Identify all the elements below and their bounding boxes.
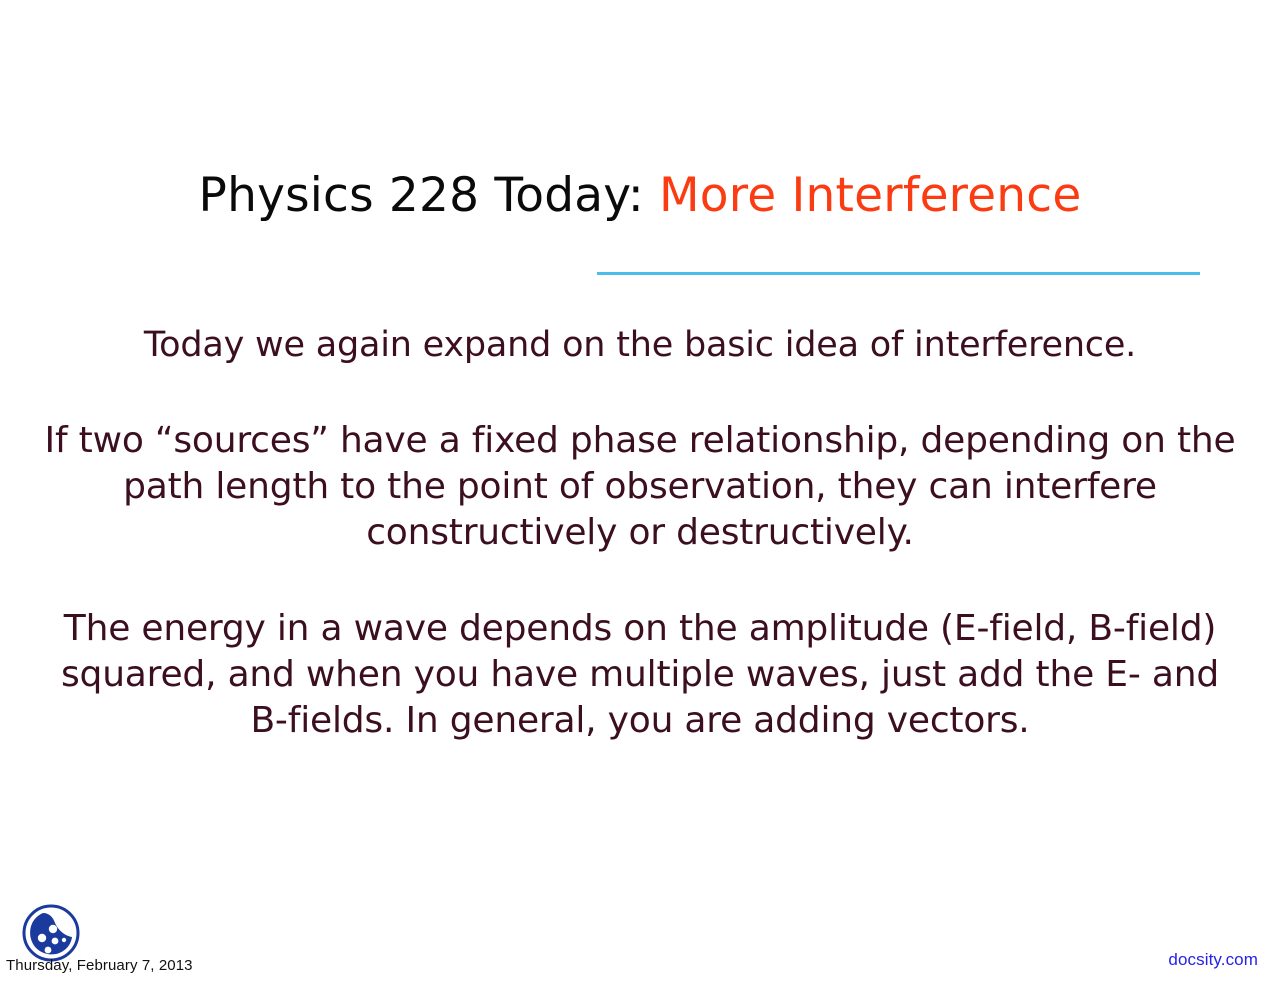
slide-canvas: Physics 228 Today: More Interference Tod… [0, 0, 1280, 985]
docsity-logo-icon [21, 903, 81, 963]
body-paragraph-1: Today we again expand on the basic idea … [40, 322, 1240, 368]
slide-title: Physics 228 Today: More Interference [0, 170, 1280, 222]
body-paragraph-2: If two “sources” have a fixed phase rela… [40, 418, 1240, 556]
footer-brand-link[interactable]: docsity.com [1168, 950, 1258, 970]
title-accent-text: More Interference [659, 168, 1081, 223]
footer-date: Thursday, February 7, 2013 [6, 957, 193, 974]
title-divider-rule [597, 272, 1200, 275]
slide-body: Today we again expand on the basic idea … [40, 322, 1240, 744]
body-paragraph-3: The energy in a wave depends on the ampl… [40, 606, 1240, 744]
title-main-text: Physics 228 Today: [199, 168, 660, 223]
